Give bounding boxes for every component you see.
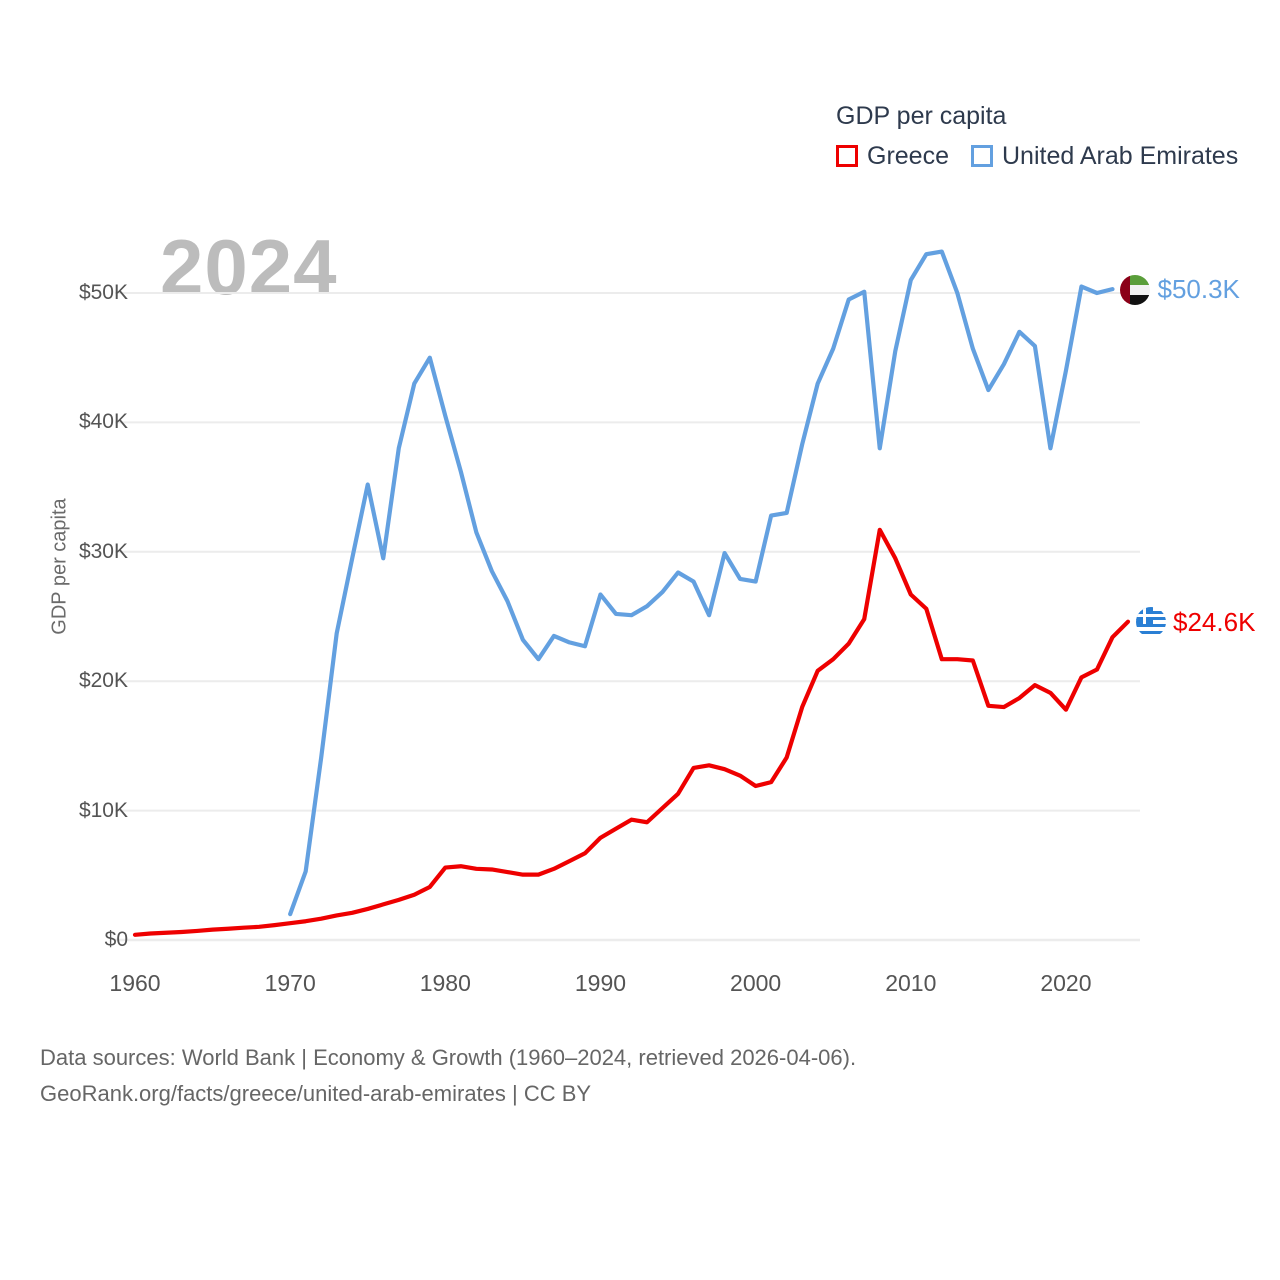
footer-line-2: GeoRank.org/facts/greece/united-arab-emi… — [40, 1076, 856, 1112]
x-tick-label: 1990 — [575, 970, 626, 997]
y-tick-label: $0 — [105, 928, 128, 952]
x-tick-label: 1970 — [265, 970, 316, 997]
uae-flag-icon — [1120, 275, 1150, 305]
footer-credits: Data sources: World Bank | Economy & Gro… — [40, 1040, 856, 1111]
greece-flag-icon — [1136, 607, 1166, 637]
end-value-united-arab-emirates: $50.3K — [1157, 274, 1239, 305]
footer-line-1: Data sources: World Bank | Economy & Gro… — [40, 1040, 856, 1076]
y-tick-label: $40K — [79, 410, 128, 434]
y-tick-label: $10K — [79, 799, 128, 823]
y-tick-label: $50K — [79, 281, 128, 305]
y-tick-label: $20K — [79, 669, 128, 693]
x-tick-label: 2010 — [885, 970, 936, 997]
x-tick-label: 1960 — [109, 970, 160, 997]
y-tick-label: $30K — [79, 540, 128, 564]
series-line-united-arab-emirates — [290, 252, 1112, 915]
x-tick-label: 2020 — [1040, 970, 1091, 997]
end-value-greece: $24.6K — [1173, 607, 1255, 638]
end-label-united-arab-emirates: $50.3K — [1120, 274, 1239, 305]
x-tick-label: 1980 — [420, 970, 471, 997]
series-lines — [135, 252, 1128, 935]
x-tick-label: 2000 — [730, 970, 781, 997]
end-label-greece: $24.6K — [1136, 607, 1255, 638]
series-line-greece — [135, 530, 1128, 935]
chart-root: GDP per capita Greece United Arab Emirat… — [0, 0, 1280, 1280]
